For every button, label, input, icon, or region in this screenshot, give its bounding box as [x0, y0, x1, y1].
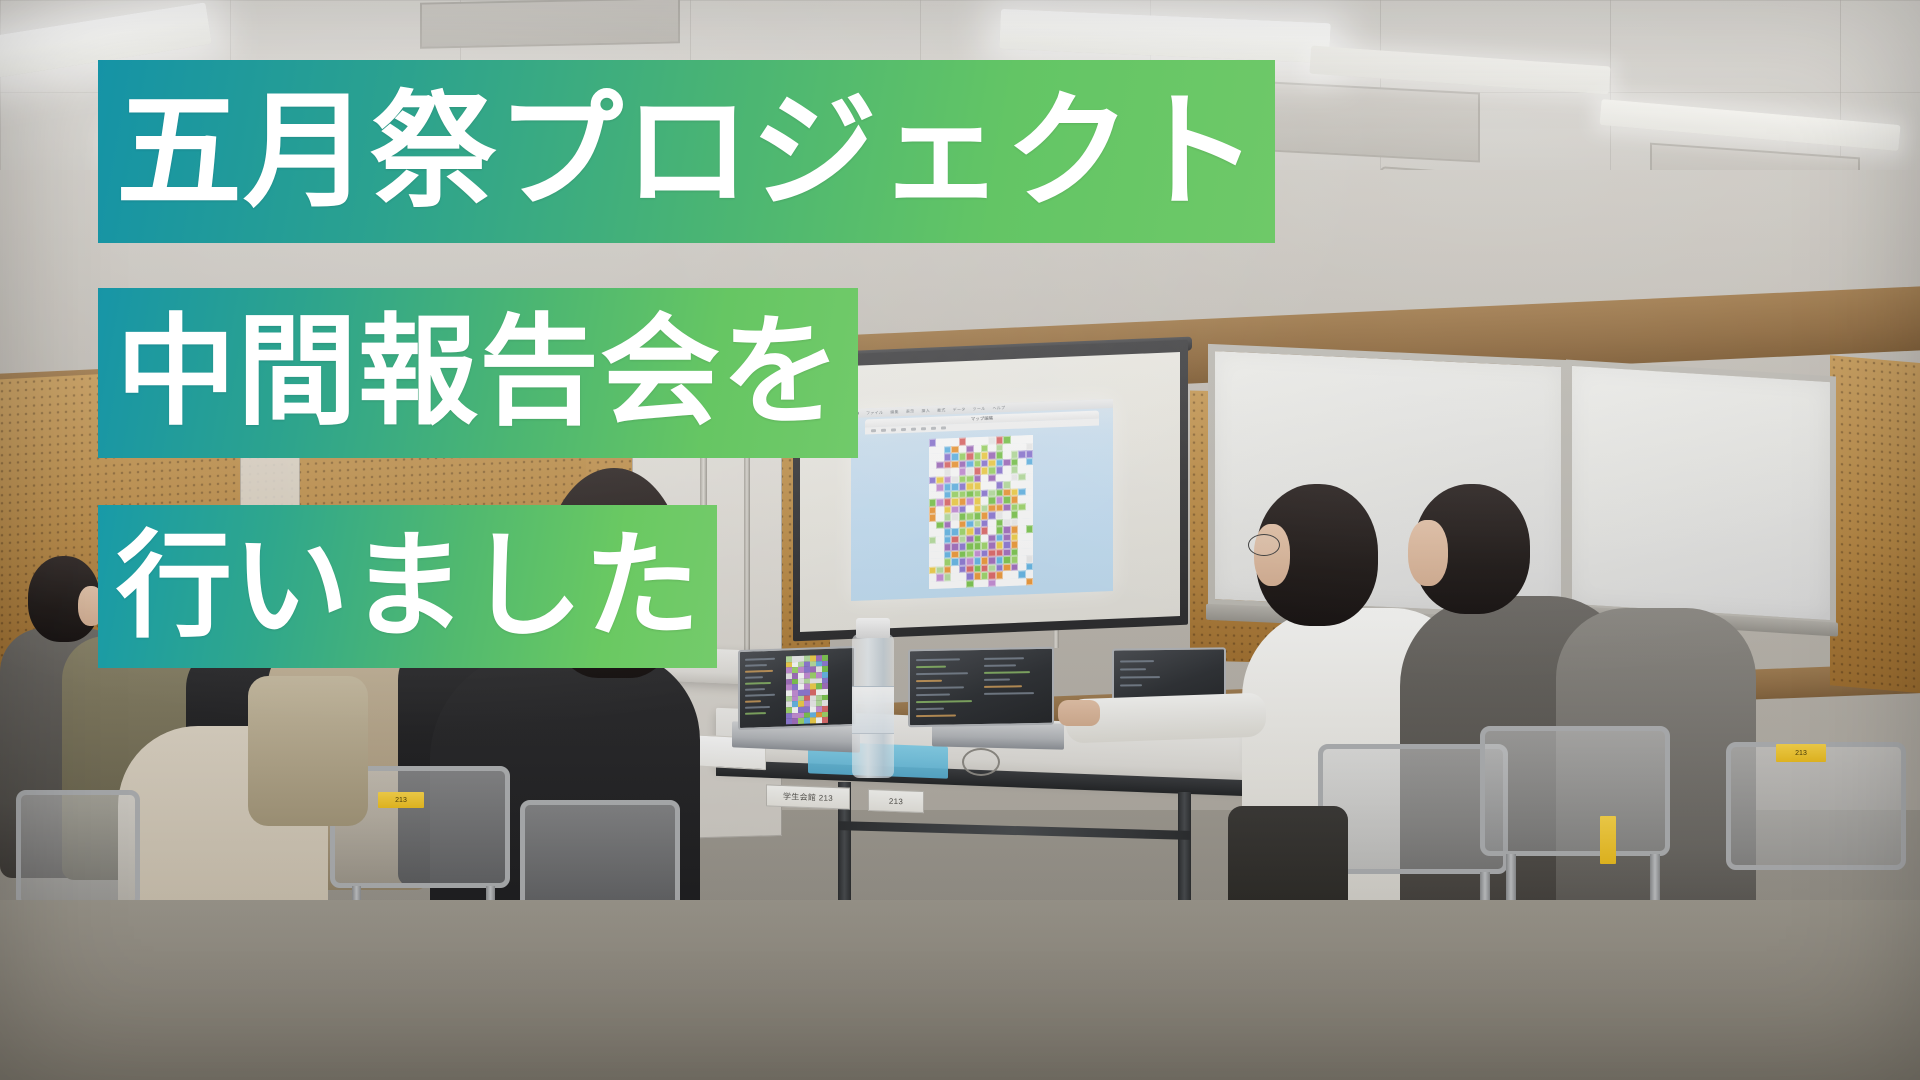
desk-plate-right-text: 213 [889, 796, 903, 806]
map-cell [974, 580, 981, 588]
chair-tag-right-text: 213 [1795, 750, 1807, 757]
desk-plate-left: 学生会館 213 [766, 784, 850, 809]
projected-desktop: ファイル 編集 表示 挿入 書式 データ ツール ヘルプ マップ編集 [851, 399, 1113, 601]
chair-tag-right-2 [1600, 816, 1616, 864]
map-cell [929, 581, 936, 589]
title-line-3: 行いました [98, 505, 717, 668]
map-cell [951, 580, 958, 588]
menubar-item-4: 書式 [937, 407, 946, 413]
toolbar-button-icon [911, 427, 916, 431]
map-cell [981, 579, 988, 587]
chair-tag-left: 213 [378, 792, 424, 808]
whiteboard-secondary [1566, 360, 1836, 627]
menubar-item-1: 編集 [890, 409, 899, 415]
menubar-item-3: 挿入 [921, 407, 930, 413]
projected-window-title: マップ編集 [971, 416, 994, 423]
front-table-crossbar [838, 821, 1190, 840]
menubar-item-7: ヘルプ [992, 405, 1005, 411]
chair-left-3[interactable] [520, 800, 680, 910]
water-bottle-label [852, 686, 894, 734]
map-cell [1018, 578, 1025, 586]
desk-plate-right: 213 [868, 789, 924, 813]
chair-left-1[interactable] [16, 790, 140, 908]
menubar-item-5: データ [953, 406, 966, 412]
title-line-2: 中間報告会を [98, 288, 858, 458]
laptop-center-screen[interactable] [908, 647, 1054, 728]
toolbar-button-icon [891, 428, 896, 432]
chair-tag-right: 213 [1776, 744, 1826, 762]
map-cell [1011, 578, 1018, 586]
bag-left [248, 676, 368, 826]
toolbar-button-icon [931, 427, 936, 431]
menubar-item-0: ファイル [866, 409, 883, 416]
water-bottle-cap [856, 618, 890, 638]
projected-map-grid [929, 435, 1033, 589]
toolbar-button-icon [941, 426, 946, 430]
toolbar-button-icon [881, 428, 886, 432]
map-cell [936, 581, 943, 589]
map-cell [966, 580, 973, 588]
toolbar-button-icon [921, 427, 926, 431]
photo-screenshot: 213 ファイル 編集 表示 挿入 書式 データ ツール [0, 0, 1920, 1080]
laptop-map-cell [822, 717, 828, 723]
laptop-left-map-grid [786, 655, 828, 724]
chair-right-2[interactable] [1480, 726, 1670, 856]
title-line-1: 五月祭プロジェクト [98, 60, 1275, 243]
toolbar-button-icon [871, 429, 876, 433]
map-cell [988, 579, 995, 587]
projected-map-grid-wrapper [929, 435, 1033, 589]
toolbar-button-icon [901, 428, 906, 432]
pegboard-far-right [1830, 355, 1920, 695]
map-cell [944, 581, 951, 589]
chair-tag-left-text: 213 [395, 797, 407, 804]
map-cell [959, 580, 966, 588]
floor [0, 900, 1920, 1080]
ceiling-vent-left [420, 0, 680, 49]
map-cell [996, 579, 1003, 587]
menubar-item-2: 表示 [906, 408, 915, 414]
laptop-left-screen[interactable] [738, 646, 856, 730]
map-cell [1026, 578, 1033, 586]
map-cell [1003, 578, 1010, 586]
coiled-cable [962, 748, 1000, 776]
desk-plate-left-text: 学生会館 213 [783, 791, 833, 804]
menubar-item-6: ツール [973, 405, 986, 411]
